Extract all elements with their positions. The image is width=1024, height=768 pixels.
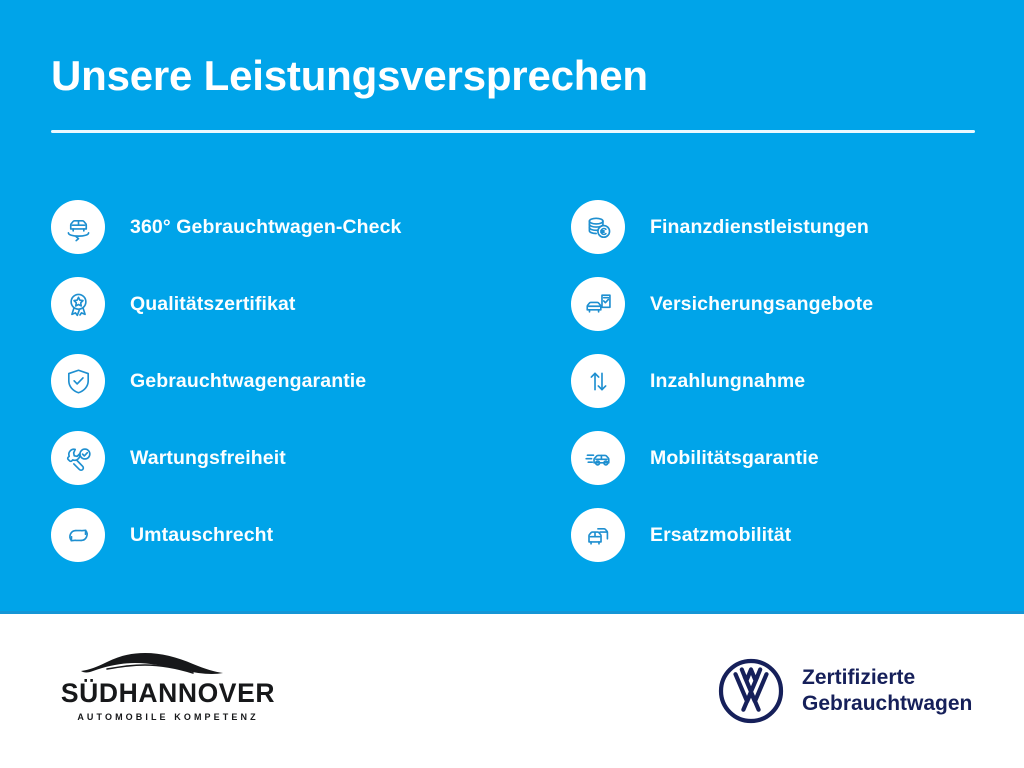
car-moving-icon: [571, 431, 625, 485]
promise-label: Qualitätszertifikat: [130, 293, 296, 316]
dealer-name: SÜDHANNOVER: [48, 680, 288, 708]
car-document-check-icon: [571, 277, 625, 331]
promise-label: Inzahlungnahme: [650, 370, 805, 393]
promise-label: Finanzdienstleistungen: [650, 216, 869, 239]
arrows-up-down-icon: [571, 354, 625, 408]
title-divider: [51, 130, 975, 133]
promise-column-right: Finanzdienstleistungen: [571, 200, 1011, 585]
promise-label: Ersatzmobilität: [650, 524, 791, 547]
promise-item-gebrauchtwagen-check[interactable]: 360° Gebrauchtwagen-Check: [51, 200, 521, 254]
promise-item-versicherungsangebote[interactable]: Versicherungsangebote: [571, 277, 1011, 331]
vw-logo-icon: [718, 658, 784, 724]
promise-label: Mobilitätsgarantie: [650, 447, 819, 470]
vw-certified-badge[interactable]: Zertifizierte Gebrauchtwagen: [718, 658, 972, 724]
car-silhouette-icon: [77, 650, 259, 678]
wrench-check-icon: [51, 431, 105, 485]
exchange-arrows-icon: [51, 508, 105, 562]
vw-badge-line1: Zertifizierte: [802, 666, 915, 689]
promise-item-finanzdienstleistungen[interactable]: Finanzdienstleistungen: [571, 200, 1011, 254]
promise-label: Versicherungsangebote: [650, 293, 873, 316]
vw-badge-text: Zertifizierte Gebrauchtwagen: [802, 665, 972, 718]
vw-badge-line2: Gebrauchtwagen: [802, 692, 972, 715]
promise-label: Wartungsfreiheit: [130, 447, 286, 470]
promise-label: Gebrauchtwagengarantie: [130, 370, 366, 393]
promise-label: 360° Gebrauchtwagen-Check: [130, 216, 401, 239]
promise-label: Umtauschrecht: [130, 524, 273, 547]
promise-item-mobilitaetsgarantie[interactable]: Mobilitätsgarantie: [571, 431, 1011, 485]
promise-item-wartungsfreiheit[interactable]: Wartungsfreiheit: [51, 431, 521, 485]
award-rosette-icon: [51, 277, 105, 331]
promise-item-gebrauchtwagengarantie[interactable]: Gebrauchtwagengarantie: [51, 354, 521, 408]
promise-page: Unsere Leistungsversprechen: [0, 0, 1024, 768]
promise-column-left: 360° Gebrauchtwagen-Check Qualitätszerti…: [51, 200, 521, 585]
car-360-check-icon: [51, 200, 105, 254]
promise-item-umtauschrecht[interactable]: Umtauschrecht: [51, 508, 521, 562]
hero-panel: Unsere Leistungsversprechen: [0, 0, 1024, 614]
promise-item-ersatzmobilitaet[interactable]: Ersatzmobilität: [571, 508, 1011, 562]
coins-euro-icon: [571, 200, 625, 254]
footer-bar: SÜDHANNOVER AUTOMOBILE KOMPETENZ Zertifi…: [0, 614, 1024, 768]
promise-item-inzahlungnahme[interactable]: Inzahlungnahme: [571, 354, 1011, 408]
page-title: Unsere Leistungsversprechen: [51, 52, 648, 99]
promise-item-qualitaetszertifikat[interactable]: Qualitätszertifikat: [51, 277, 521, 331]
shield-check-icon: [51, 354, 105, 408]
two-cars-icon: [571, 508, 625, 562]
dealer-logo[interactable]: SÜDHANNOVER AUTOMOBILE KOMPETENZ: [48, 650, 288, 722]
dealer-tagline: AUTOMOBILE KOMPETENZ: [48, 712, 288, 722]
